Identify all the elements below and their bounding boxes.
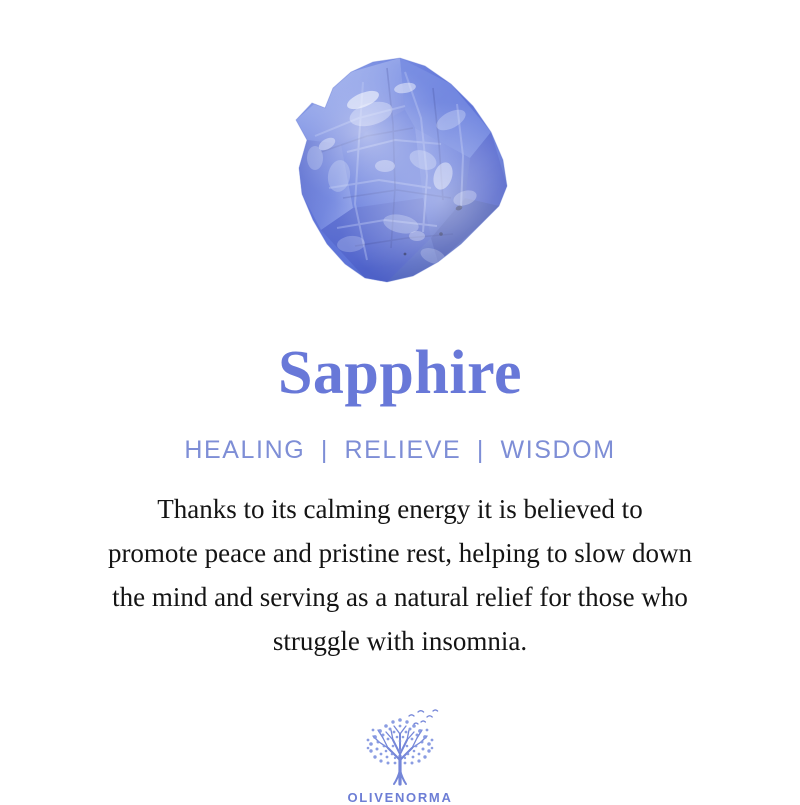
sapphire-crystal-image [255,48,520,293]
keyword-healing: HEALING [184,436,305,464]
description-line: struggle with insomnia. [30,619,770,663]
brand-name: OLIVENORMA [347,790,452,805]
keyword-relieve: RELIEVE [345,436,462,464]
keyword-separator: | [314,436,336,464]
gemstone-hero [0,0,800,320]
description-line: the mind and serving as a natural relief… [30,575,770,619]
sapphire-crystal-illustration [255,48,520,293]
page-title: Sapphire [278,342,522,404]
keyword-wisdom: WISDOM [501,436,616,464]
birds-icon [409,710,438,724]
keyword-list: HEALING | RELIEVE | WISDOM [184,436,615,465]
description-line: Thanks to its calming energy it is belie… [30,487,770,531]
description-line: promote peace and pristine rest, helping… [30,531,770,575]
brand-logo: OLIVENORMA [347,706,452,805]
gemstone-info-card: Sapphire HEALING | RELIEVE | WISDOM Than… [0,0,800,800]
keyword-separator: | [470,436,492,464]
crystal-body [255,48,520,293]
tree-of-life-icon [357,706,443,788]
description-text: Thanks to its calming energy it is belie… [30,487,770,663]
